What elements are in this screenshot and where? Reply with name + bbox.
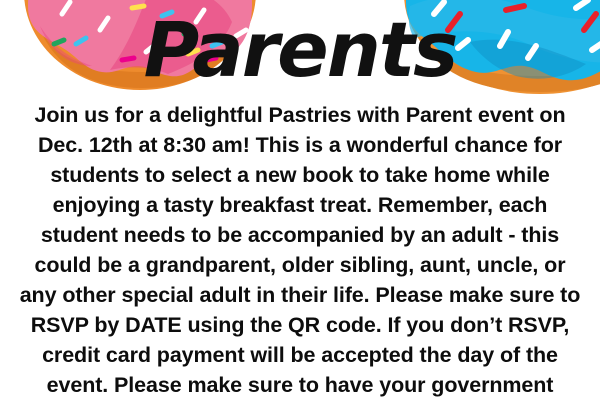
page-title: Parents — [0, 2, 600, 98]
event-description-text: Join us for a delightful Pastries with P… — [14, 100, 586, 400]
heading-band: Parents — [0, 0, 600, 100]
flyer-poster: Parents Join us for a delightful Pastrie… — [0, 0, 600, 400]
